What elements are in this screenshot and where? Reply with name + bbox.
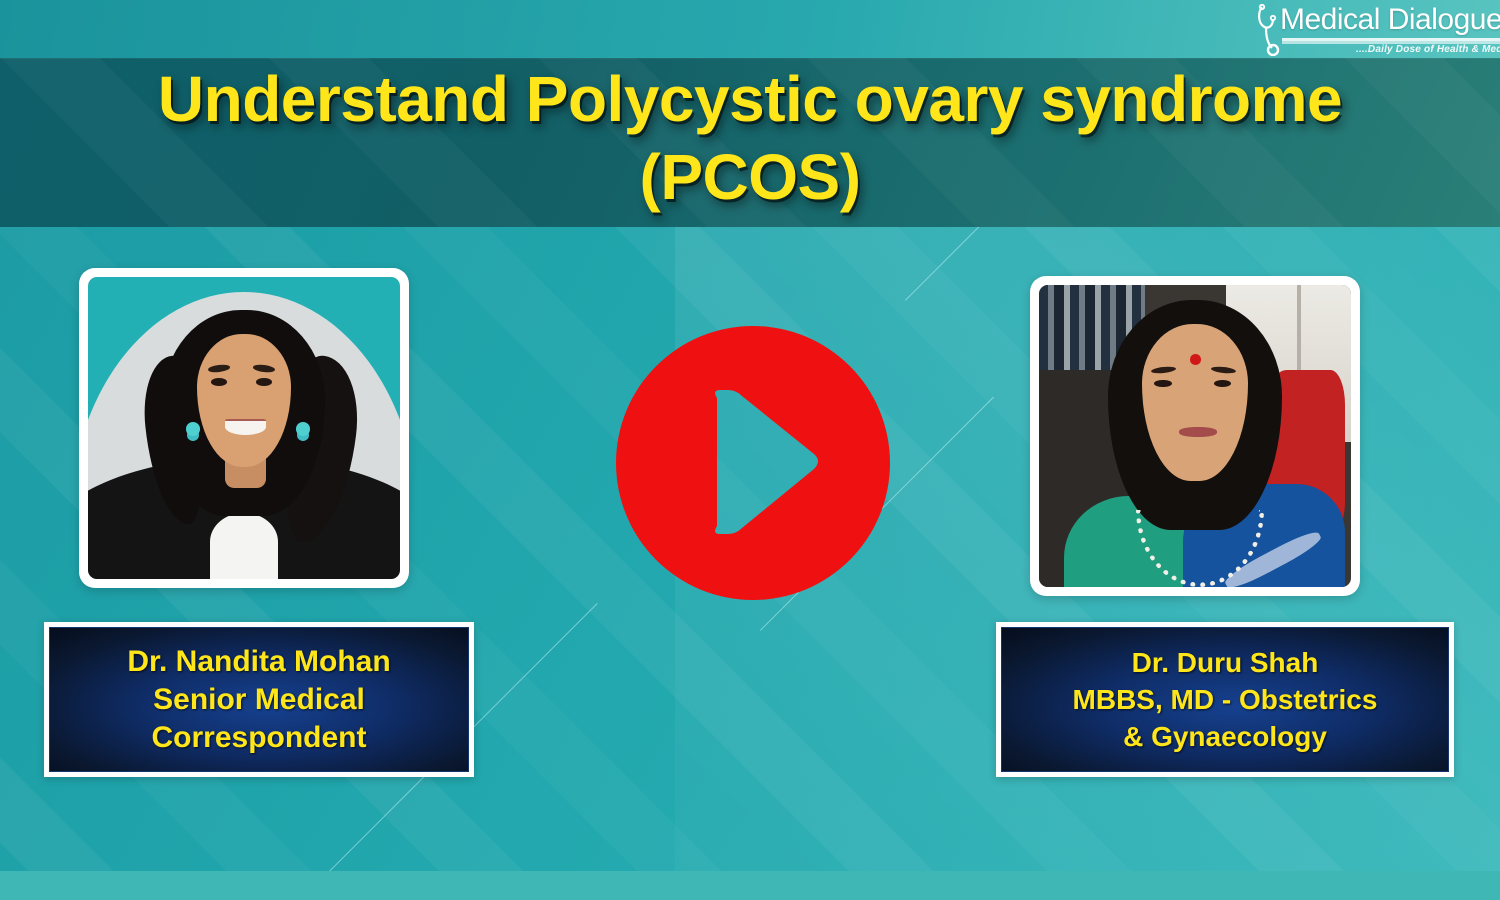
bottom-accent-strip — [0, 871, 1500, 900]
speaker-portrait-right — [1030, 276, 1360, 596]
play-circle — [616, 326, 890, 600]
logo-tagline: ....Daily Dose of Health & Medical Ne — [1356, 44, 1500, 55]
logo-divider — [1282, 38, 1500, 41]
nameplate-right-text: Dr. Duru Shah MBBS, MD - Obstetrics & Gy… — [1073, 644, 1378, 755]
brand-logo[interactable]: Medical Dialogue ....Daily Dose of Healt… — [1246, 2, 1500, 58]
play-button[interactable] — [616, 326, 890, 600]
nameplate-left-panel: Dr. Nandita Mohan Senior Medical Corresp… — [49, 627, 469, 772]
speaker-portrait-right-image — [1039, 285, 1351, 587]
logo-wordmark: Medical Dialogue — [1280, 4, 1500, 36]
video-thumbnail-slide: Understand Polycystic ovary syndrome (PC… — [0, 0, 1500, 900]
nameplate-right: Dr. Duru Shah MBBS, MD - Obstetrics & Gy… — [996, 622, 1454, 777]
nameplate-left: Dr. Nandita Mohan Senior Medical Corresp… — [44, 622, 474, 777]
nameplate-right-panel: Dr. Duru Shah MBBS, MD - Obstetrics & Gy… — [1001, 627, 1449, 772]
speaker-portrait-left-image — [88, 277, 400, 579]
nameplate-left-text: Dr. Nandita Mohan Senior Medical Corresp… — [127, 643, 390, 757]
page-title: Understand Polycystic ovary syndrome (PC… — [0, 60, 1500, 216]
speaker-portrait-left — [79, 268, 409, 588]
